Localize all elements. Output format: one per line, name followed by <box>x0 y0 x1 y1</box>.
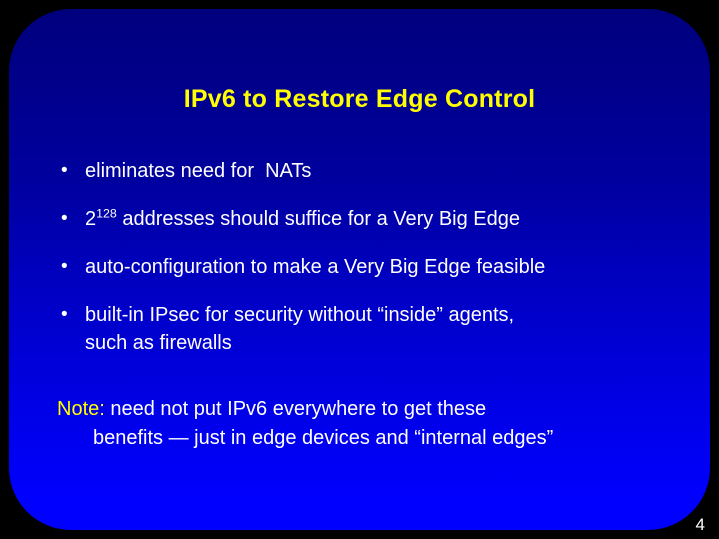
page-title: IPv6 to Restore Edge Control <box>9 85 710 114</box>
bullet-base-text: 2 <box>85 208 96 230</box>
list-item: • 2128 addresses should suffice for a Ve… <box>57 205 697 233</box>
bullet-point-icon: • <box>57 205 85 233</box>
list-item: • built-in IPsec for security without “i… <box>57 301 697 357</box>
bullet-point-icon: • <box>57 301 85 329</box>
bullet-superscript: 128 <box>96 206 117 220</box>
bullet-list: • eliminates need for NATs • 2128 addres… <box>57 157 697 377</box>
note-first-line: Note: need not put IPv6 everywhere to ge… <box>57 395 677 424</box>
bullet-point-icon: • <box>57 253 85 281</box>
bullet-point-icon: • <box>57 157 85 185</box>
bullet-text: eliminates need for NATs <box>85 157 311 185</box>
bullet-text: built-in IPsec for security without “ins… <box>85 301 514 357</box>
list-item: • auto-configuration to make a Very Big … <box>57 253 697 281</box>
list-item: • eliminates need for NATs <box>57 157 697 185</box>
note-second-line: benefits — just in edge devices and “int… <box>57 424 677 453</box>
bullet-rest-text: addresses should suffice for a Very Big … <box>117 208 520 230</box>
note-first-line-text: need not put IPv6 everywhere to get thes… <box>105 398 486 420</box>
bullet-text: 2128 addresses should suffice for a Very… <box>85 205 520 233</box>
slide-canvas: IPv6 to Restore Edge Control • eliminate… <box>9 9 710 530</box>
page-number: 4 <box>696 515 705 535</box>
note-label: Note <box>57 398 99 420</box>
note-block: Note: need not put IPv6 everywhere to ge… <box>57 395 677 453</box>
slide-page: IPv6 to Restore Edge Control • eliminate… <box>0 0 719 539</box>
bullet-text: auto-configuration to make a Very Big Ed… <box>85 253 545 281</box>
